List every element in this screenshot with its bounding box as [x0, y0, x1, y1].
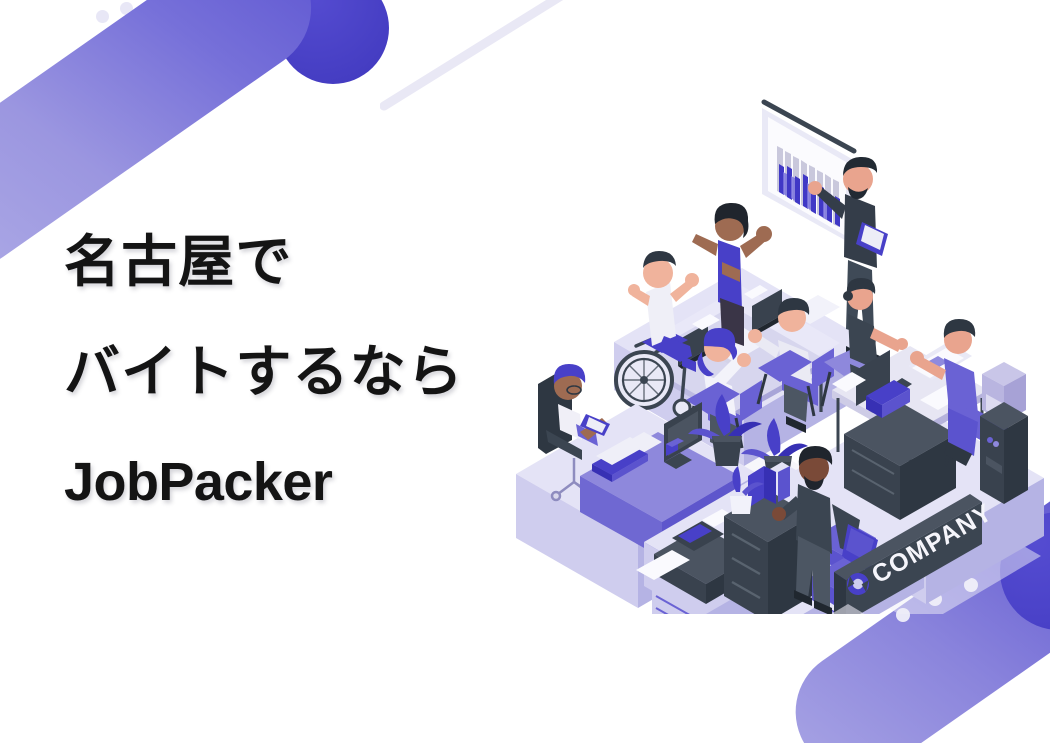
dot-1: [120, 2, 133, 15]
isometric-office-illustration: COMPANY: [496, 84, 1050, 614]
projector-screen: [762, 102, 854, 244]
headline-line-2: バイトするなら: [64, 338, 464, 406]
dot-5: [188, 24, 201, 37]
dot-4: [144, 18, 157, 31]
dot-8: [104, 62, 117, 75]
headline-block: 名古屋で バイトするなら JobPacker: [64, 228, 464, 514]
dot-6: [118, 36, 131, 49]
dot-9: [134, 64, 147, 77]
hero-banner: 名古屋で バイトするなら JobPacker: [0, 0, 1050, 743]
dot-7: [160, 44, 173, 57]
headline-line-3: JobPacker: [64, 450, 464, 514]
dot-2: [166, 0, 179, 9]
water-cooler: [980, 362, 1028, 504]
dot-cluster-top-left-icon: [88, 0, 238, 96]
headline-line-1: 名古屋で: [64, 228, 464, 296]
dot-3: [96, 10, 109, 23]
circle-top-decoration: [277, 0, 389, 84]
